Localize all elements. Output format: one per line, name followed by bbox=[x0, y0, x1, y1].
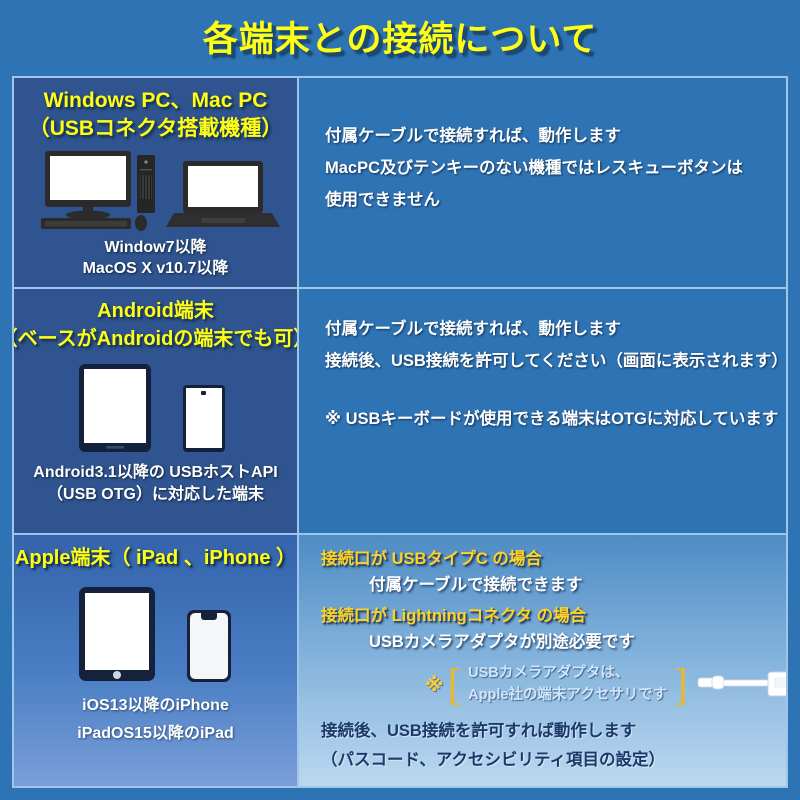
row-windows-mac-text-line1: 付属ケーブルで接続すれば、動作します bbox=[325, 120, 772, 152]
row-android-text-line2: 接続後、USB接続を許可してください（画面に表示されます） bbox=[325, 345, 772, 377]
ipad-and-iphone-illustration bbox=[51, 587, 261, 683]
row-apple-caption-line2: iPadOS15以降のiPad bbox=[77, 723, 234, 745]
row-windows-mac-heading-line1: Windows PC、Mac PC bbox=[44, 88, 268, 114]
title-bar: 各端末との接続について bbox=[0, 0, 800, 72]
note-text-line2: Apple社の端末アクセサリです bbox=[468, 685, 667, 707]
row-apple-heading-line1: Apple端末（ iPad 、iPhone ） bbox=[15, 546, 296, 571]
desktop-and-laptop-illustration bbox=[31, 149, 281, 231]
row-windows-mac-caption-line1: Window7以降 bbox=[104, 237, 206, 259]
table-row-windows-mac: Windows PC、Mac PC （USBコネクタ搭載機種） bbox=[14, 78, 786, 289]
table-row-apple: Apple端末（ iPad 、iPhone ） bbox=[14, 535, 786, 786]
row-windows-mac-text-line2: MacPC及びテンキーのない機種ではレスキューボタンは bbox=[325, 152, 772, 184]
note-text-line1: USBカメラアダプタは、 bbox=[468, 663, 667, 685]
lightning-to-usb-camera-adapter-illustration bbox=[696, 666, 786, 705]
infographic-root: 各端末との接続について Windows PC、Mac PC （USBコネクタ搭載… bbox=[0, 0, 800, 800]
row-windows-mac-caption-line2: MacOS X v10.7以降 bbox=[83, 258, 229, 280]
note-mark-icon: ※ bbox=[425, 674, 443, 697]
page-title: 各端末との接続について bbox=[203, 11, 598, 62]
row-apple-footer-line1: 接続後、USB接続を許可すれば動作します bbox=[321, 717, 772, 746]
row-apple-footer-line2: （パスコード、アクセシビリティ項目の設定） bbox=[321, 746, 772, 775]
row-apple-lightning-detail: USBカメラアダプタが別途必要です bbox=[321, 630, 772, 656]
row-windows-mac-right-cell: 付属ケーブルで接続すれば、動作します MacPC及びテンキーのない機種ではレスキ… bbox=[299, 78, 786, 287]
row-windows-mac-heading-line2: （USBコネクタ搭載機種） bbox=[29, 116, 283, 142]
android-tablet-and-phone-illustration bbox=[51, 362, 261, 454]
note-body: USBカメラアダプタは、 Apple社の端末アクセサリです bbox=[462, 663, 673, 707]
row-android-left-cell: Android端末 （ベースがAndroidの端末でも可） bbox=[14, 289, 299, 533]
row-windows-mac-left-cell: Windows PC、Mac PC （USBコネクタ搭載機種） bbox=[14, 78, 299, 287]
row-android-otg-note: ※ USBキーボードが使用できる端末はOTGに対応しています bbox=[325, 403, 772, 435]
row-android-right-cell: 付属ケーブルで接続すれば、動作します 接続後、USB接続を許可してください（画面… bbox=[299, 289, 786, 533]
table-row-android: Android端末 （ベースがAndroidの端末でも可） bbox=[14, 289, 786, 535]
device-compatibility-table: Windows PC、Mac PC （USBコネクタ搭載機種） bbox=[12, 76, 788, 788]
bracket-right-icon: ] bbox=[673, 668, 688, 702]
row-android-heading-line2: （ベースがAndroidの端末でも可） bbox=[14, 327, 299, 352]
row-apple-right-cell: 接続口が USBタイプC の場合 付属ケーブルで接続できます 接続口が Ligh… bbox=[299, 535, 786, 786]
row-apple-lightning-heading: 接続口が Lightningコネクタ の場合 bbox=[321, 604, 772, 630]
usb-camera-adapter-note: ※ [ USBカメラアダプタは、 Apple社の端末アクセサリです ] bbox=[425, 663, 772, 707]
bracket-left-icon: [ bbox=[447, 668, 462, 702]
row-apple-usbc-detail: 付属ケーブルで接続できます bbox=[321, 573, 772, 599]
row-apple-left-cell: Apple端末（ iPad 、iPhone ） bbox=[14, 535, 299, 786]
row-apple-caption-line1: iOS13以降のiPhone bbox=[82, 695, 229, 717]
row-windows-mac-text-line3: 使用できません bbox=[325, 184, 772, 216]
row-android-caption-line2: （USB OTG）に対応した端末 bbox=[47, 484, 264, 506]
row-android-caption-line1: Android3.1以降の USBホストAPI bbox=[33, 462, 277, 484]
row-android-heading-line1: Android端末 bbox=[97, 299, 214, 324]
row-apple-usbc-heading: 接続口が USBタイプC の場合 bbox=[321, 547, 772, 573]
row-android-text-line1: 付属ケーブルで接続すれば、動作します bbox=[325, 313, 772, 345]
